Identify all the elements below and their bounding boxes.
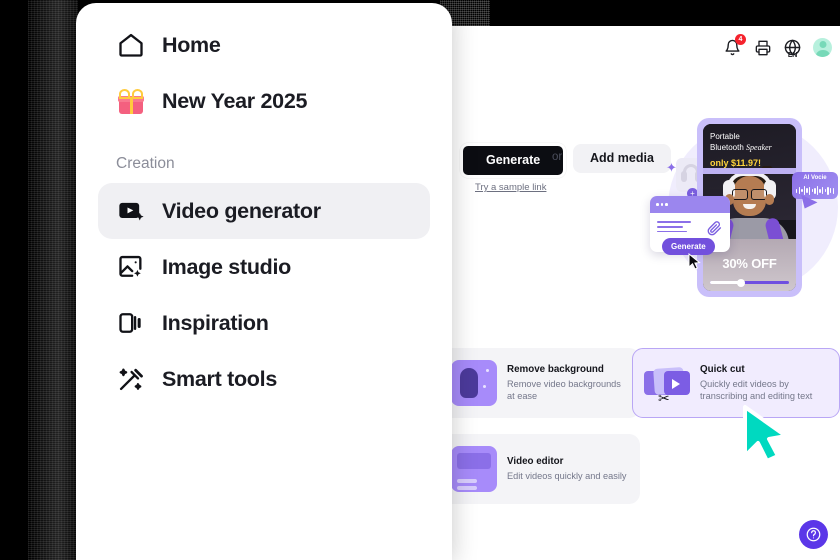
card-description: Quickly edit videos by transcribing and … — [700, 378, 828, 403]
ai-voice-label: AI Vocie — [792, 175, 838, 181]
help-button[interactable] — [799, 520, 828, 549]
screenshot-root: 4 EN deos Generate or — [0, 0, 840, 560]
video-progress-track[interactable] — [710, 281, 789, 284]
language-code-label: EN — [788, 52, 797, 59]
sidebar-item-label: Video generator — [162, 199, 321, 224]
card-title: Quick cut — [700, 364, 828, 375]
remove-background-thumb — [451, 360, 497, 406]
bell-icon[interactable]: 4 — [723, 38, 742, 57]
generate-button[interactable]: Generate — [460, 143, 566, 178]
paperclip-icon[interactable] — [707, 220, 722, 237]
or-label: or — [552, 151, 562, 163]
ad-headline-italic: Speaker — [746, 143, 772, 152]
sidebar-item-image-studio[interactable]: Image studio — [98, 239, 430, 295]
ad-discount-label: 30% OFF — [703, 256, 796, 271]
video-progress-fill — [710, 281, 740, 284]
sidebar-item-home[interactable]: Home — [98, 17, 430, 73]
ad-divider-strip — [703, 168, 796, 174]
ad-headline-line2: Bluetooth — [710, 143, 746, 152]
video-progress-knob[interactable] — [737, 279, 745, 287]
card-text-remove-background: Remove background Remove video backgroun… — [507, 364, 629, 403]
sidebar-item-smart-tools[interactable]: Smart tools — [98, 351, 430, 407]
sidebar-item-inspiration[interactable]: Inspiration — [98, 295, 430, 351]
ai-voice-badge: AI Vocie — [792, 172, 838, 199]
navigation-drawer: Home New Year 2025 Creation — [76, 3, 452, 560]
headphone-headband — [727, 172, 772, 188]
card-text-video-editor: Video editor Edit videos quickly and eas… — [507, 456, 627, 482]
video-editor-thumb — [451, 446, 497, 492]
sidebar-item-label: Inspiration — [162, 311, 269, 336]
scissors-icon: ✂ — [658, 390, 670, 407]
sidebar-item-label: Image studio — [162, 255, 291, 280]
card-remove-background[interactable]: Remove background Remove video backgroun… — [440, 348, 640, 418]
card-title: Remove background — [507, 364, 629, 375]
sidebar-item-new-year-2025[interactable]: New Year 2025 — [98, 73, 430, 129]
globe-language-icon[interactable]: EN — [783, 38, 802, 57]
gift-icon — [116, 86, 146, 116]
header-icon-group: 4 EN — [723, 38, 832, 57]
video-generator-icon — [116, 196, 146, 226]
waveform-icon — [796, 186, 834, 195]
sidebar-item-label: Home — [162, 33, 221, 58]
magic-wand-icon — [116, 364, 146, 394]
ad-headline: Portable Bluetooth Speaker — [710, 132, 772, 154]
sidebar-nav: Home New Year 2025 Creation — [76, 3, 452, 407]
sidebar-section-label: Creation — [116, 151, 412, 173]
card-window-dots — [650, 196, 730, 213]
try-sample-link[interactable]: Try a sample link — [475, 182, 546, 193]
sidebar-item-label: Smart tools — [162, 367, 277, 392]
card-text-lines — [657, 221, 691, 235]
play-icon — [672, 379, 680, 389]
person-right-hand — [765, 194, 774, 205]
print-icon[interactable] — [753, 38, 772, 57]
sidebar-item-video-generator[interactable]: Video generator — [98, 183, 430, 239]
card-description: Remove video backgrounds at ease — [507, 378, 629, 403]
home-icon — [116, 30, 146, 60]
inspiration-icon — [116, 308, 146, 338]
avatar[interactable] — [813, 38, 832, 57]
card-video-editor[interactable]: Video editor Edit videos quickly and eas… — [440, 434, 640, 504]
sidebar-item-label: New Year 2025 — [162, 89, 307, 114]
quick-cut-thumb: ✂ — [644, 360, 690, 406]
card-title: Video editor — [507, 456, 627, 467]
image-studio-icon — [116, 252, 146, 282]
headset-left-cup — [681, 171, 687, 182]
card-quick-cut[interactable]: ✂ Quick cut Quickly edit videos by trans… — [632, 348, 840, 418]
person-glasses — [732, 189, 767, 198]
gift-glyph — [118, 89, 144, 114]
notification-badge: 4 — [735, 34, 746, 45]
promo-illustration: ✦ + Portable Bluetooth Speaker only $11.… — [640, 112, 840, 302]
card-text-quick-cut: Quick cut Quickly edit videos by transcr… — [700, 364, 828, 403]
card-description: Edit videos quickly and easily — [507, 470, 627, 482]
ad-headline-line1: Portable — [710, 132, 740, 141]
teal-cursor-icon — [739, 403, 791, 470]
